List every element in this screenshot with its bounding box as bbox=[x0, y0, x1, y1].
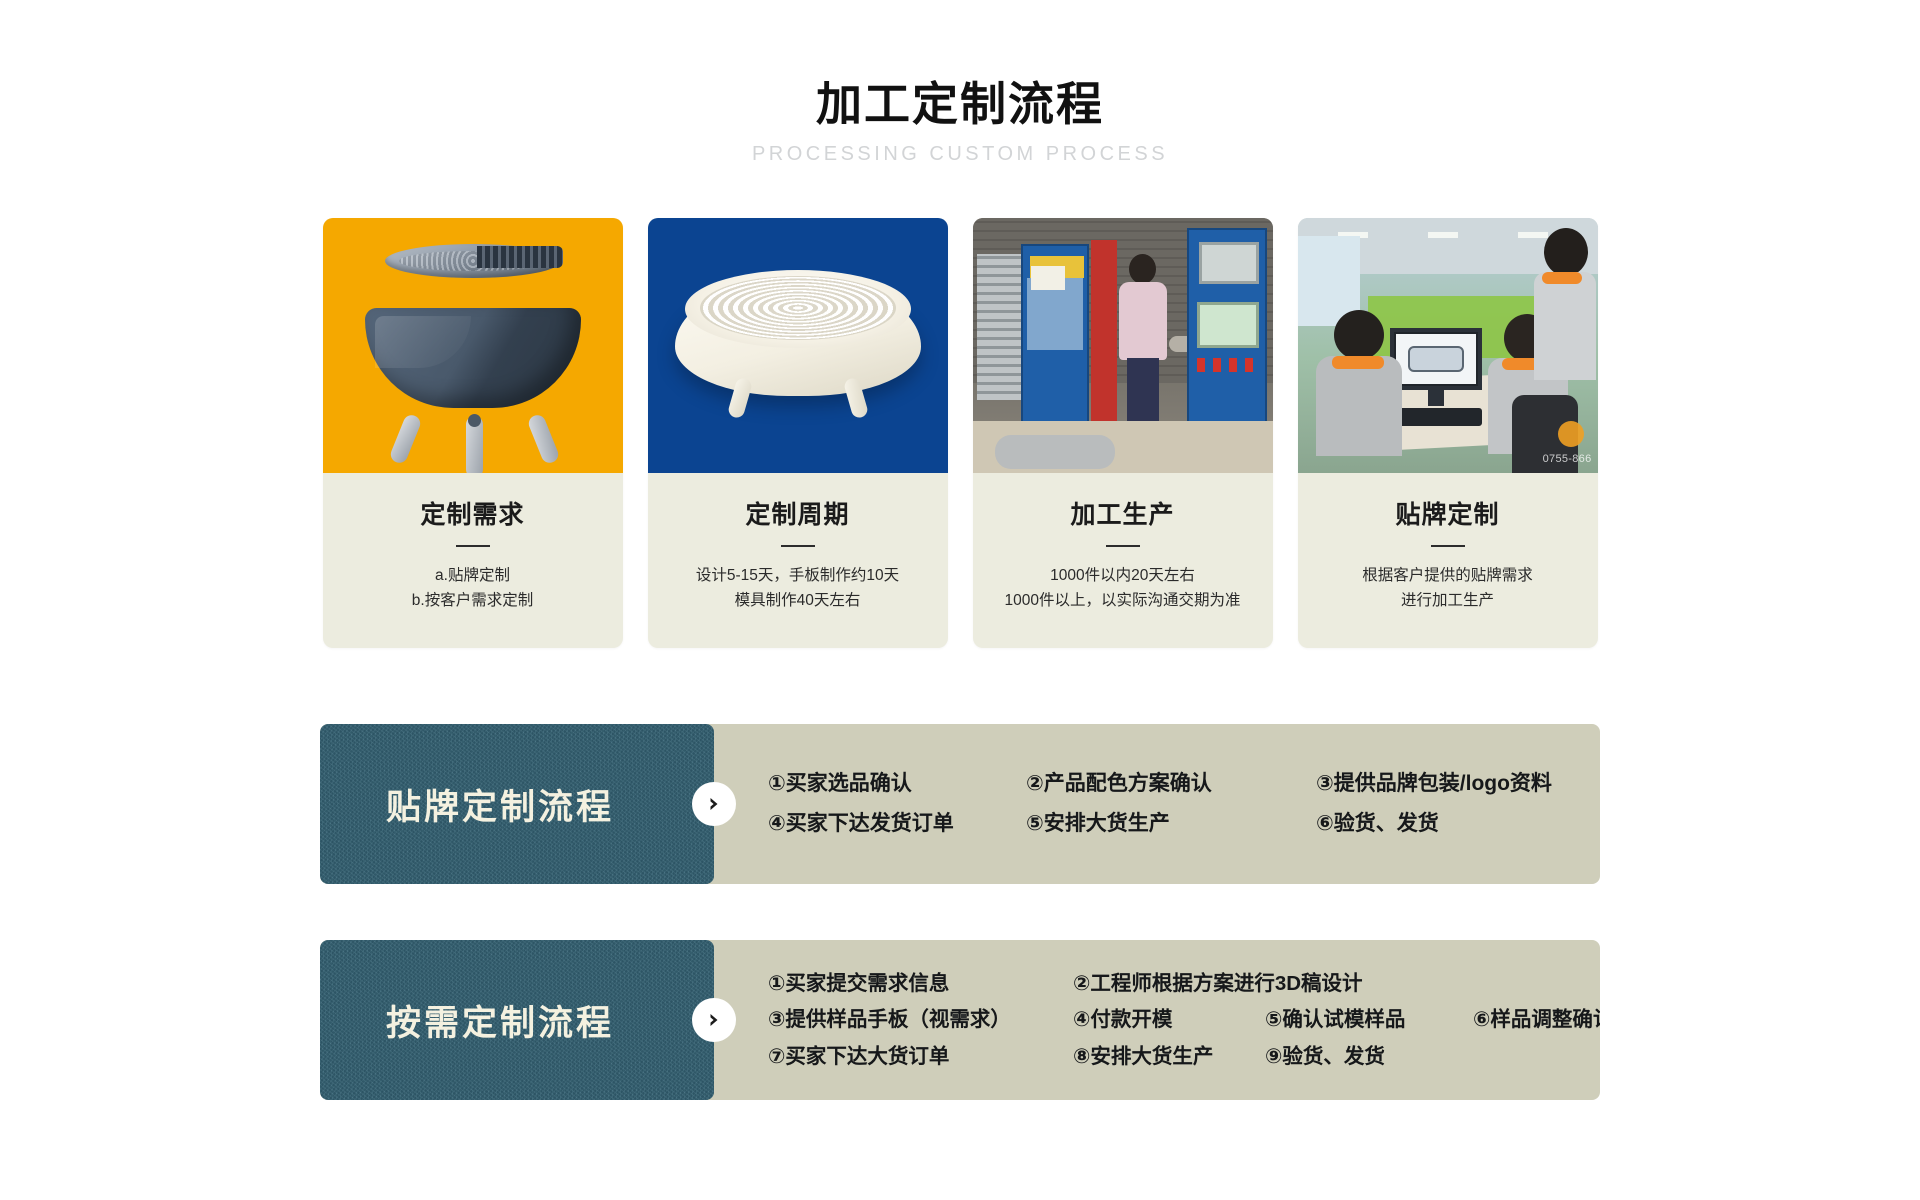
phone-watermark: 0755-866 bbox=[1543, 453, 1592, 465]
cad-drawing-shape bbox=[1408, 346, 1464, 372]
stacked-parts-shape bbox=[977, 254, 1021, 400]
monitor-stand-shape bbox=[1428, 390, 1444, 406]
engineer-right-head-shape bbox=[1544, 228, 1588, 276]
ondemand-process-row-1: ①买家提交需求信息 ②工程师根据方案进行3D稿设计 bbox=[768, 971, 1600, 997]
card-3-line-2: 1000件以上，以实际沟通交期为准 bbox=[983, 588, 1263, 614]
prototype-rings-shape bbox=[700, 276, 896, 340]
page-header: 加工定制流程 PROCESSING CUSTOM PROCESS bbox=[0, 0, 1920, 166]
warning-sign-shape bbox=[1031, 266, 1065, 290]
oem-process-label[interactable]: 贴牌定制流程 bbox=[320, 724, 714, 884]
card-2-body: 定制周期 设计5-15天，手板制作约10天 模具制作40天左右 bbox=[648, 473, 948, 648]
machine-display-upper-shape bbox=[1199, 242, 1259, 284]
company-logo-watermark-icon bbox=[1558, 421, 1584, 447]
ceiling-light-2-shape bbox=[1428, 232, 1458, 238]
keyboard-shape bbox=[1396, 408, 1482, 426]
oem-process-items: ①买家选品确认 ②产品配色方案确认 ③提供品牌包装/logo资料 ④买家下达发货… bbox=[714, 724, 1600, 884]
ondemand-process-items: ①买家提交需求信息 ②工程师根据方案进行3D稿设计 ③提供样品手板（视需求） ④… bbox=[714, 940, 1600, 1100]
ondemand-step-5: ⑤确认试模样品 bbox=[1265, 1007, 1473, 1033]
oem-step-4: ④买家下达发货订单 bbox=[768, 811, 1026, 837]
card-2-title: 定制周期 bbox=[658, 495, 938, 531]
engineer-right-collar-shape bbox=[1542, 272, 1582, 284]
ondemand-step-3: ③提供样品手板（视需求） bbox=[768, 1007, 1073, 1033]
page-title: 加工定制流程 bbox=[0, 78, 1920, 131]
product-leg-left-shape bbox=[388, 413, 422, 466]
page-subtitle: PROCESSING CUSTOM PROCESS bbox=[0, 143, 1920, 166]
card-1-line-1: a.贴牌定制 bbox=[333, 563, 613, 589]
engineer-left-head-shape bbox=[1334, 310, 1384, 360]
process-card-list: 定制需求 a.贴牌定制 b.按客户需求定制 定制周期 设计5-15天，手板制作约… bbox=[0, 218, 1920, 648]
oem-step-2: ②产品配色方案确认 bbox=[1026, 771, 1316, 797]
red-machine-column-shape bbox=[1091, 240, 1117, 430]
card-2-photo bbox=[648, 218, 948, 473]
oem-step-3: ③提供品牌包装/logo资料 bbox=[1316, 771, 1552, 797]
ondemand-process-label-text: 按需定制流程 bbox=[386, 995, 614, 1046]
card-2-line-2: 模具制作40天左右 bbox=[658, 588, 938, 614]
ondemand-step-7: ⑦买家下达大货订单 bbox=[768, 1044, 1073, 1070]
ondemand-step-2: ②工程师根据方案进行3D稿设计 bbox=[1073, 971, 1363, 997]
card-1-divider bbox=[456, 545, 490, 547]
oem-step-5: ⑤安排大货生产 bbox=[1026, 811, 1316, 837]
engineer-left-collar-shape bbox=[1332, 356, 1384, 369]
engineer-right-figure bbox=[1534, 228, 1596, 378]
card-3-title: 加工生产 bbox=[983, 495, 1263, 531]
process-card-1[interactable]: 定制需求 a.贴牌定制 b.按客户需求定制 bbox=[323, 218, 623, 648]
ondemand-step-9: ⑨验货、发货 bbox=[1265, 1044, 1385, 1070]
oem-step-6: ⑥验货、发货 bbox=[1316, 811, 1439, 837]
card-1-line-2: b.按客户需求定制 bbox=[333, 588, 613, 614]
card-4-divider bbox=[1431, 545, 1465, 547]
card-3-body: 加工生产 1000件以内20天左右 1000件以上，以实际沟通交期为准 bbox=[973, 473, 1273, 648]
process-card-4[interactable]: 0755-866 贴牌定制 根据客户提供的贴牌需求 进行加工生产 bbox=[1298, 218, 1598, 648]
oem-step-1: ①买家选品确认 bbox=[768, 771, 1026, 797]
ondemand-process-label[interactable]: 按需定制流程 bbox=[320, 940, 714, 1100]
machine-display-lower-shape bbox=[1197, 302, 1259, 348]
machine-buttons-shape bbox=[1197, 358, 1257, 372]
engineer-left-figure bbox=[1316, 310, 1402, 450]
card-1-body: 定制需求 a.贴牌定制 b.按客户需求定制 bbox=[323, 473, 623, 648]
chevron-right-icon bbox=[692, 782, 736, 826]
worker-head-shape bbox=[1129, 254, 1156, 284]
card-4-photo: 0755-866 bbox=[1298, 218, 1598, 473]
card-3-photo bbox=[973, 218, 1273, 473]
product-leg-right-shape bbox=[526, 413, 560, 466]
card-3-line-1: 1000件以内20天左右 bbox=[983, 563, 1263, 589]
card-2-divider bbox=[781, 545, 815, 547]
card-3-divider bbox=[1106, 545, 1140, 547]
oem-process-row-2: ④买家下达发货订单 ⑤安排大货生产 ⑥验货、发货 bbox=[768, 811, 1582, 837]
ondemand-process-banner: 按需定制流程 ①买家提交需求信息 ②工程师根据方案进行3D稿设计 ③提供样品手板… bbox=[320, 940, 1600, 1100]
card-4-body: 贴牌定制 根据客户提供的贴牌需求 进行加工生产 bbox=[1298, 473, 1598, 648]
process-card-2[interactable]: 定制周期 设计5-15天，手板制作约10天 模具制作40天左右 bbox=[648, 218, 948, 648]
chevron-right-icon bbox=[692, 998, 736, 1042]
worker-legs-shape bbox=[1127, 358, 1159, 430]
process-card-3[interactable]: 加工生产 1000件以内20天左右 1000件以上，以实际沟通交期为准 bbox=[973, 218, 1273, 648]
card-1-title: 定制需求 bbox=[333, 495, 613, 531]
product-leg-center-shape bbox=[466, 416, 483, 473]
product-bowl-shape bbox=[365, 308, 581, 408]
oem-process-banner: 贴牌定制流程 ①买家选品确认 ②产品配色方案确认 ③提供品牌包装/logo资料 … bbox=[320, 724, 1600, 884]
engineer-left-body-shape bbox=[1316, 356, 1402, 456]
engineer-right-body-shape bbox=[1534, 272, 1596, 380]
ondemand-step-6: ⑥样品调整确认 bbox=[1473, 1007, 1600, 1033]
oem-process-label-text: 贴牌定制流程 bbox=[386, 779, 614, 830]
product-lid-grill-shape bbox=[477, 246, 563, 268]
card-2-line-1: 设计5-15天，手板制作约10天 bbox=[658, 563, 938, 589]
card-4-line-1: 根据客户提供的贴牌需求 bbox=[1308, 563, 1588, 589]
card-1-illustration bbox=[323, 218, 623, 473]
ondemand-step-8: ⑧安排大货生产 bbox=[1073, 1044, 1265, 1070]
card-4-title: 贴牌定制 bbox=[1308, 495, 1588, 531]
page-root: 加工定制流程 PROCESSING CUSTOM PROCESS 定制需求 a.… bbox=[0, 0, 1920, 1200]
factory-worker-figure bbox=[1119, 254, 1167, 429]
ondemand-process-row-2: ③提供样品手板（视需求） ④付款开模 ⑤确认试模样品 ⑥样品调整确认 bbox=[768, 1007, 1600, 1033]
ondemand-step-4: ④付款开模 bbox=[1073, 1007, 1265, 1033]
oem-process-row-1: ①买家选品确认 ②产品配色方案确认 ③提供品牌包装/logo资料 bbox=[768, 771, 1582, 797]
worker-body-shape bbox=[1119, 282, 1167, 360]
molded-part-shape bbox=[995, 435, 1115, 469]
ondemand-step-1: ①买家提交需求信息 bbox=[768, 971, 1073, 997]
ondemand-process-row-3: ⑦买家下达大货订单 ⑧安排大货生产 ⑨验货、发货 bbox=[768, 1044, 1600, 1070]
card-4-line-2: 进行加工生产 bbox=[1308, 588, 1588, 614]
